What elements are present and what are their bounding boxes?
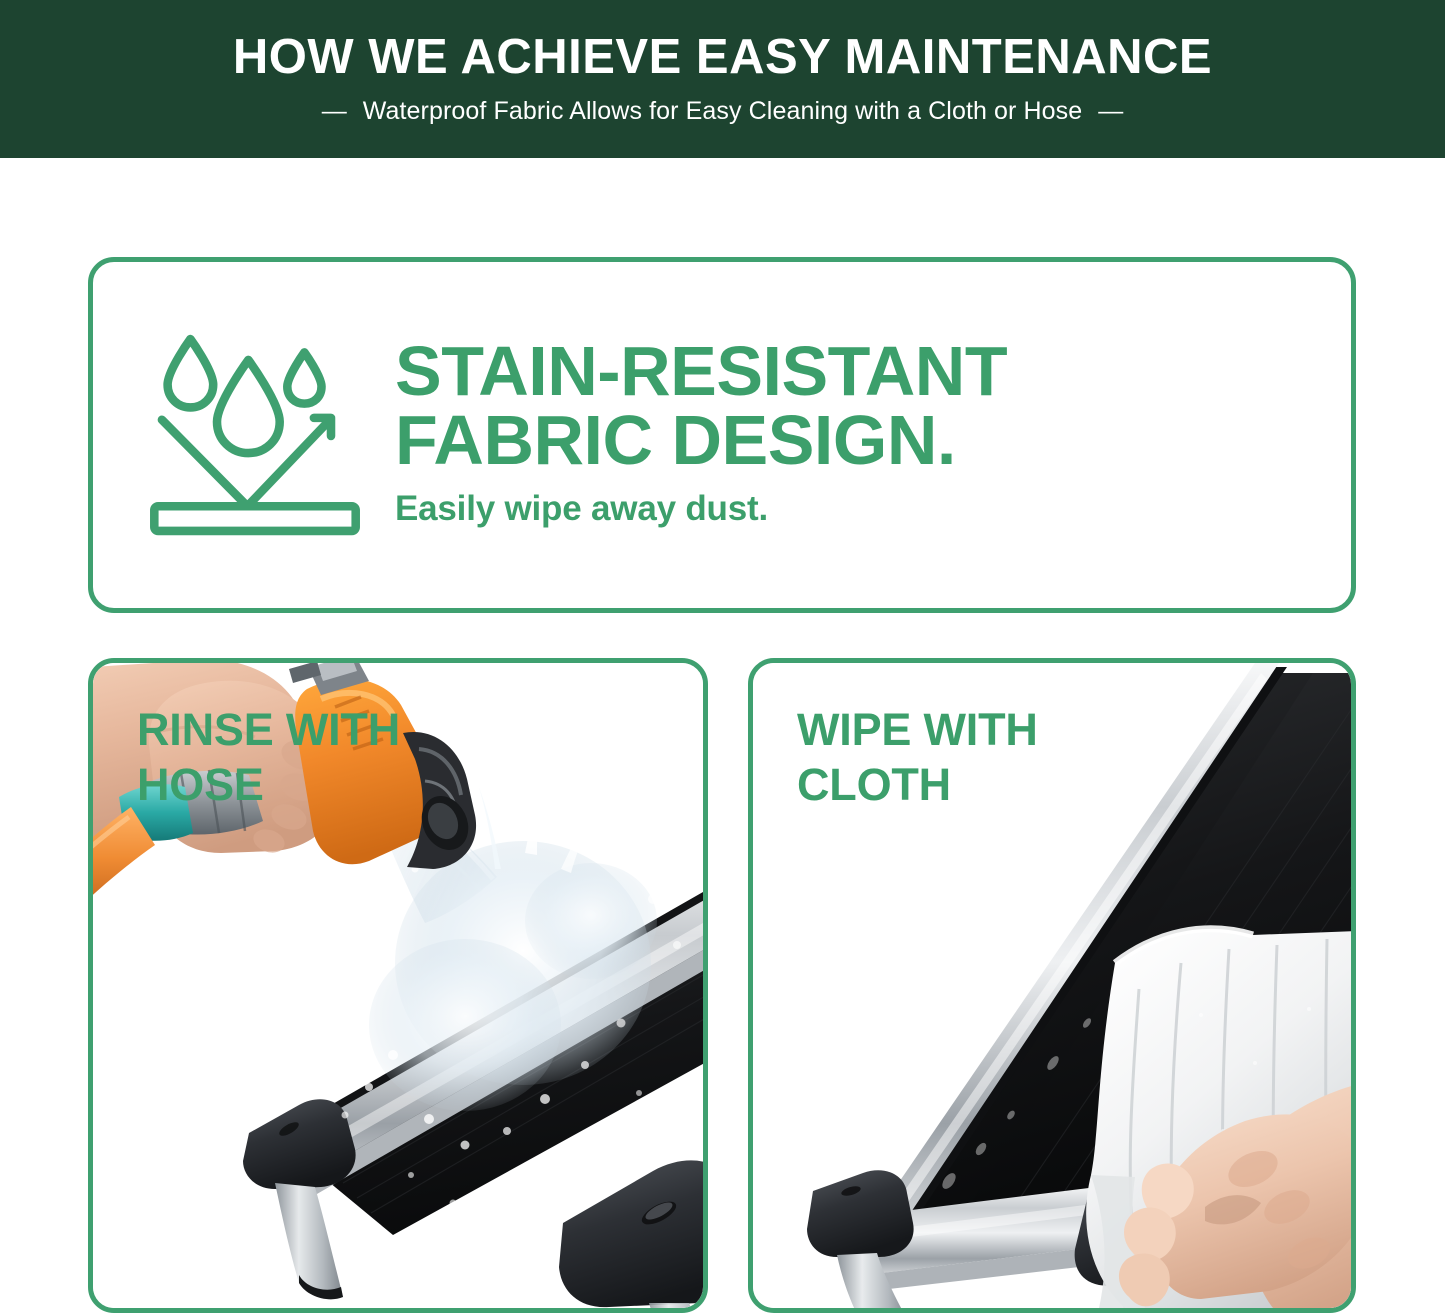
header-banner: HOW WE ACHIEVE EASY MAINTENANCE — Waterp… <box>0 0 1445 158</box>
rinse-with-hose-panel: RINSE WITH HOSE <box>88 658 708 1313</box>
feature-subheading: Easily wipe away dust. <box>395 489 1351 529</box>
stain-resistant-feature-panel: STAIN-RESISTANT FABRIC DESIGN. Easily wi… <box>88 257 1356 613</box>
feature-panel-content: STAIN-RESISTANT FABRIC DESIGN. Easily wi… <box>93 262 1351 608</box>
water-repellent-fabric-icon <box>141 325 369 545</box>
feature-text-block: STAIN-RESISTANT FABRIC DESIGN. Easily wi… <box>395 337 1351 532</box>
header-subtitle-row: — Waterproof Fabric Allows for Easy Clea… <box>322 97 1124 126</box>
infographic-page: HOW WE ACHIEVE EASY MAINTENANCE — Waterp… <box>0 0 1445 1316</box>
dash-left-ornament: — <box>322 99 347 124</box>
feature-heading-line-1: STAIN-RESISTANT <box>395 337 1351 406</box>
dash-right-ornament: — <box>1098 99 1123 124</box>
wipe-heading-line-1: WIPE WITH <box>797 703 1038 758</box>
feature-heading-line-2: FABRIC DESIGN. <box>395 406 1351 475</box>
page-title: HOW WE ACHIEVE EASY MAINTENANCE <box>233 32 1212 83</box>
rinse-heading-line-2: HOSE <box>137 758 400 813</box>
wipe-heading-line-2: CLOTH <box>797 758 1038 813</box>
page-subtitle: Waterproof Fabric Allows for Easy Cleani… <box>363 97 1083 126</box>
wipe-panel-heading: WIPE WITH CLOTH <box>797 703 1038 813</box>
rinse-panel-heading: RINSE WITH HOSE <box>137 703 400 813</box>
rinse-heading-line-1: RINSE WITH <box>137 703 400 758</box>
wipe-with-cloth-panel: WIPE WITH CLOTH <box>748 658 1356 1313</box>
